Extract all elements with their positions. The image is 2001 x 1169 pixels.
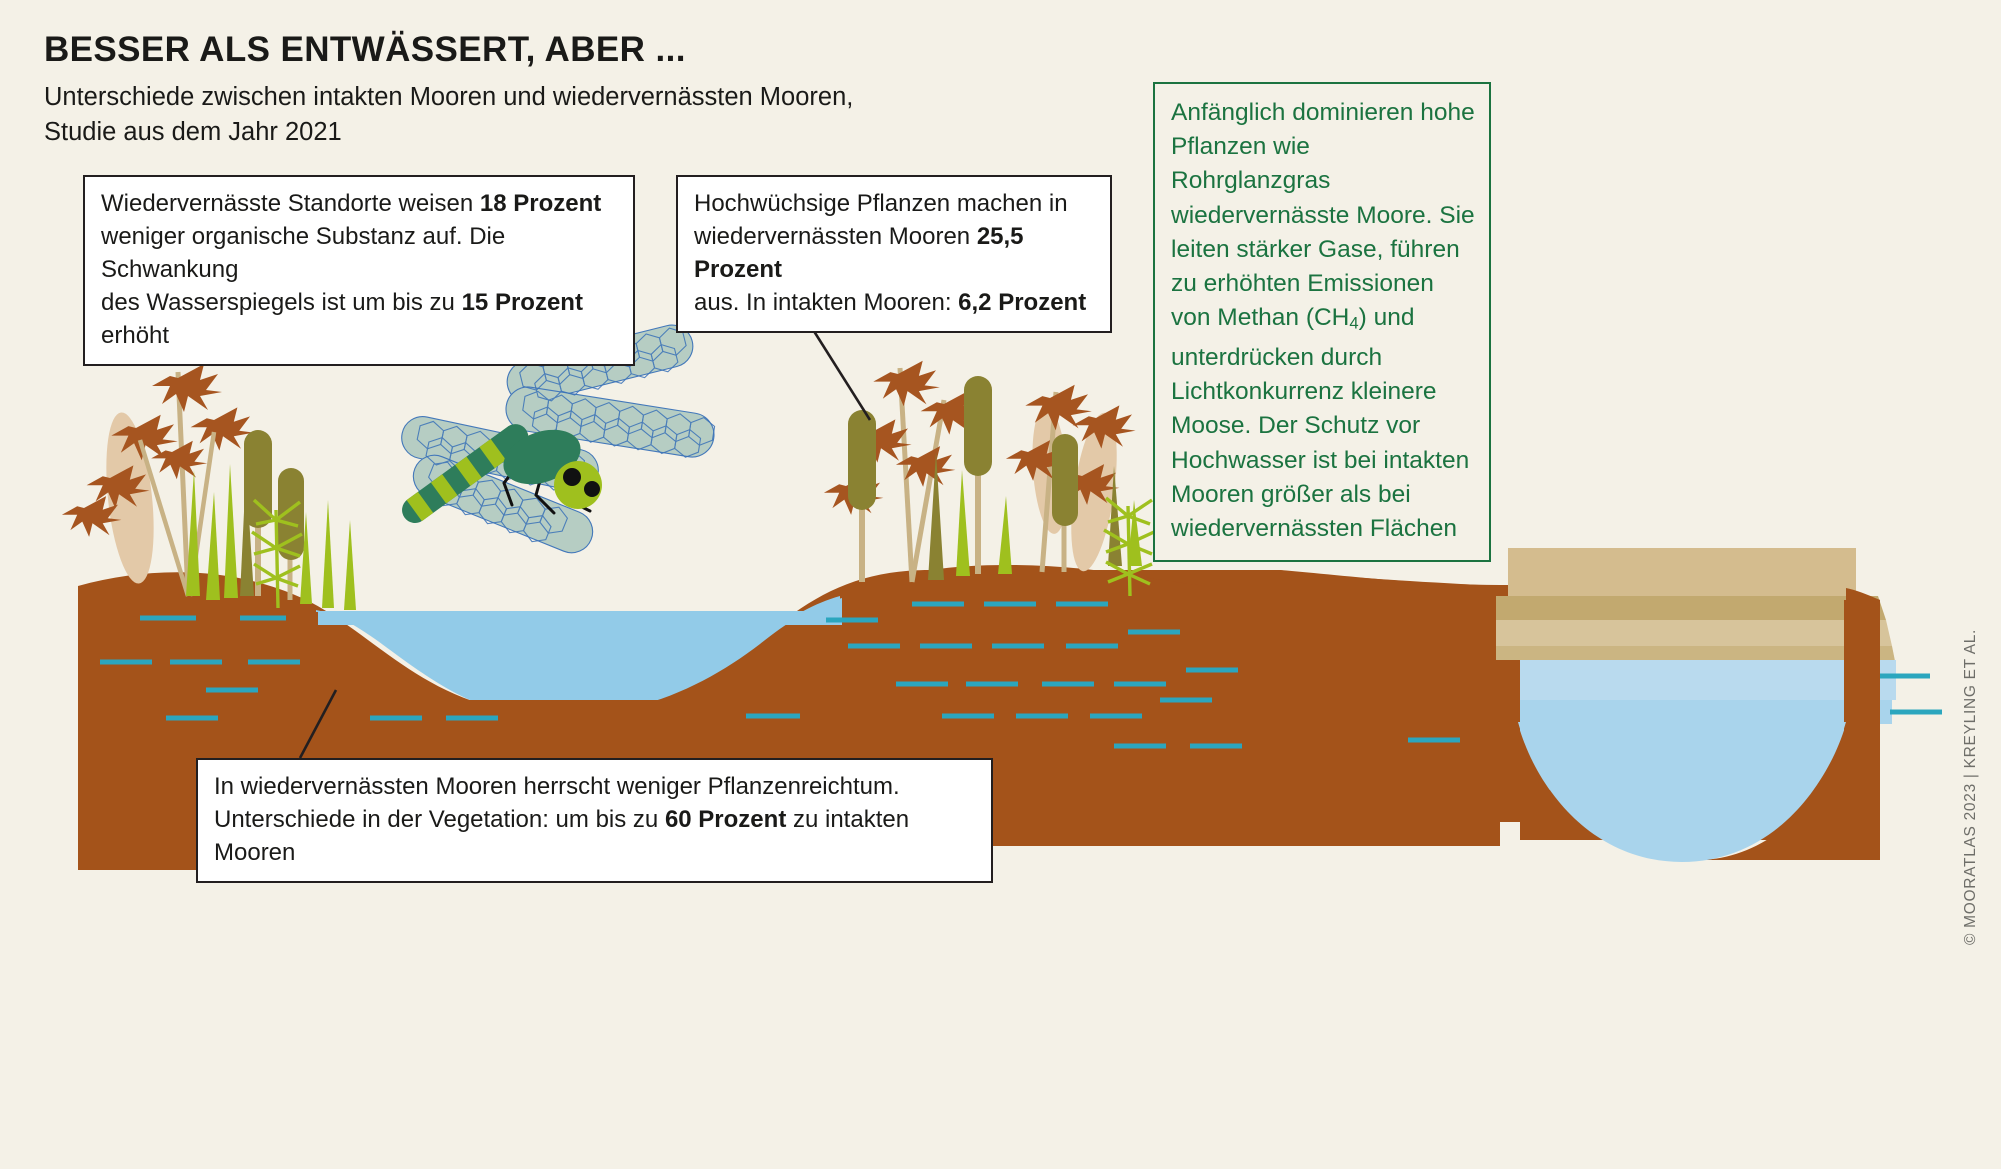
tall-plants-callout: Hochwüchsige Pflanzen machen in wiederve… <box>676 175 1112 333</box>
greenbox-part1: Anfänglich dominieren hohe Pflanzen wie … <box>1171 99 1475 331</box>
peat-layers <box>1476 548 1896 666</box>
callout1-stat-18: 18 Prozent <box>480 190 601 217</box>
credit-container: © MOORATLAS 2023 | KREYLING ET AL. <box>1962 645 1992 945</box>
vegetation-diversity-callout: In wiedervernässten Mooren herrscht weni… <box>196 758 993 883</box>
rewetted-sites-callout: Wiedervernässte Standorte weisen 18 Proz… <box>83 175 635 366</box>
infographic-canvas: BESSER ALS ENTWÄSSERT, ABER ... Untersch… <box>0 0 2001 1169</box>
cattail-left <box>244 430 304 600</box>
callout2-line2a: wiedervernässten Mooren <box>694 223 977 250</box>
vegetation-left <box>62 364 356 610</box>
callout1-line1a: Wiedervernässte Standorte weisen <box>101 190 480 217</box>
callout1-line3c: erhöht <box>101 322 169 349</box>
methane-emissions-note: Anfänglich dominieren hohe Pflanzen wie … <box>1153 82 1491 562</box>
page-title: BESSER ALS ENTWÄSSERT, ABER ... <box>44 30 686 70</box>
page-subtitle: Unterschiede zwischen intakten Mooren un… <box>44 80 853 150</box>
callout1-stat-15: 15 Prozent <box>462 289 583 316</box>
greenbox-subscript: 4 <box>1349 314 1358 333</box>
callout3-line1: In wiedervernässten Mooren herrscht weni… <box>214 773 900 800</box>
vegetation-right <box>824 361 1154 596</box>
callout3-line2a: Unterschiede in der Vegetation: um bis z… <box>214 806 665 833</box>
credit-text: © MOORATLAS 2023 | KREYLING ET AL. <box>1962 629 1980 945</box>
callout3-stat-60: 60 Prozent <box>665 806 786 833</box>
callout2-stat-62: 6,2 Prozent <box>958 289 1086 316</box>
greenbox-part2: ) und unterdrücken durch Lichtkonkurrenz… <box>1171 304 1469 542</box>
callout1-line2: weniger organische Substanz auf. Die Sch… <box>101 223 505 283</box>
callout1-line3a: des Wasserspiegels ist um bis zu <box>101 289 462 316</box>
callout2-line3a: aus. In intakten Mooren: <box>694 289 958 316</box>
reed-grass-flowers <box>62 364 254 537</box>
callout2-line1: Hochwüchsige Pflanzen machen in <box>694 190 1068 217</box>
